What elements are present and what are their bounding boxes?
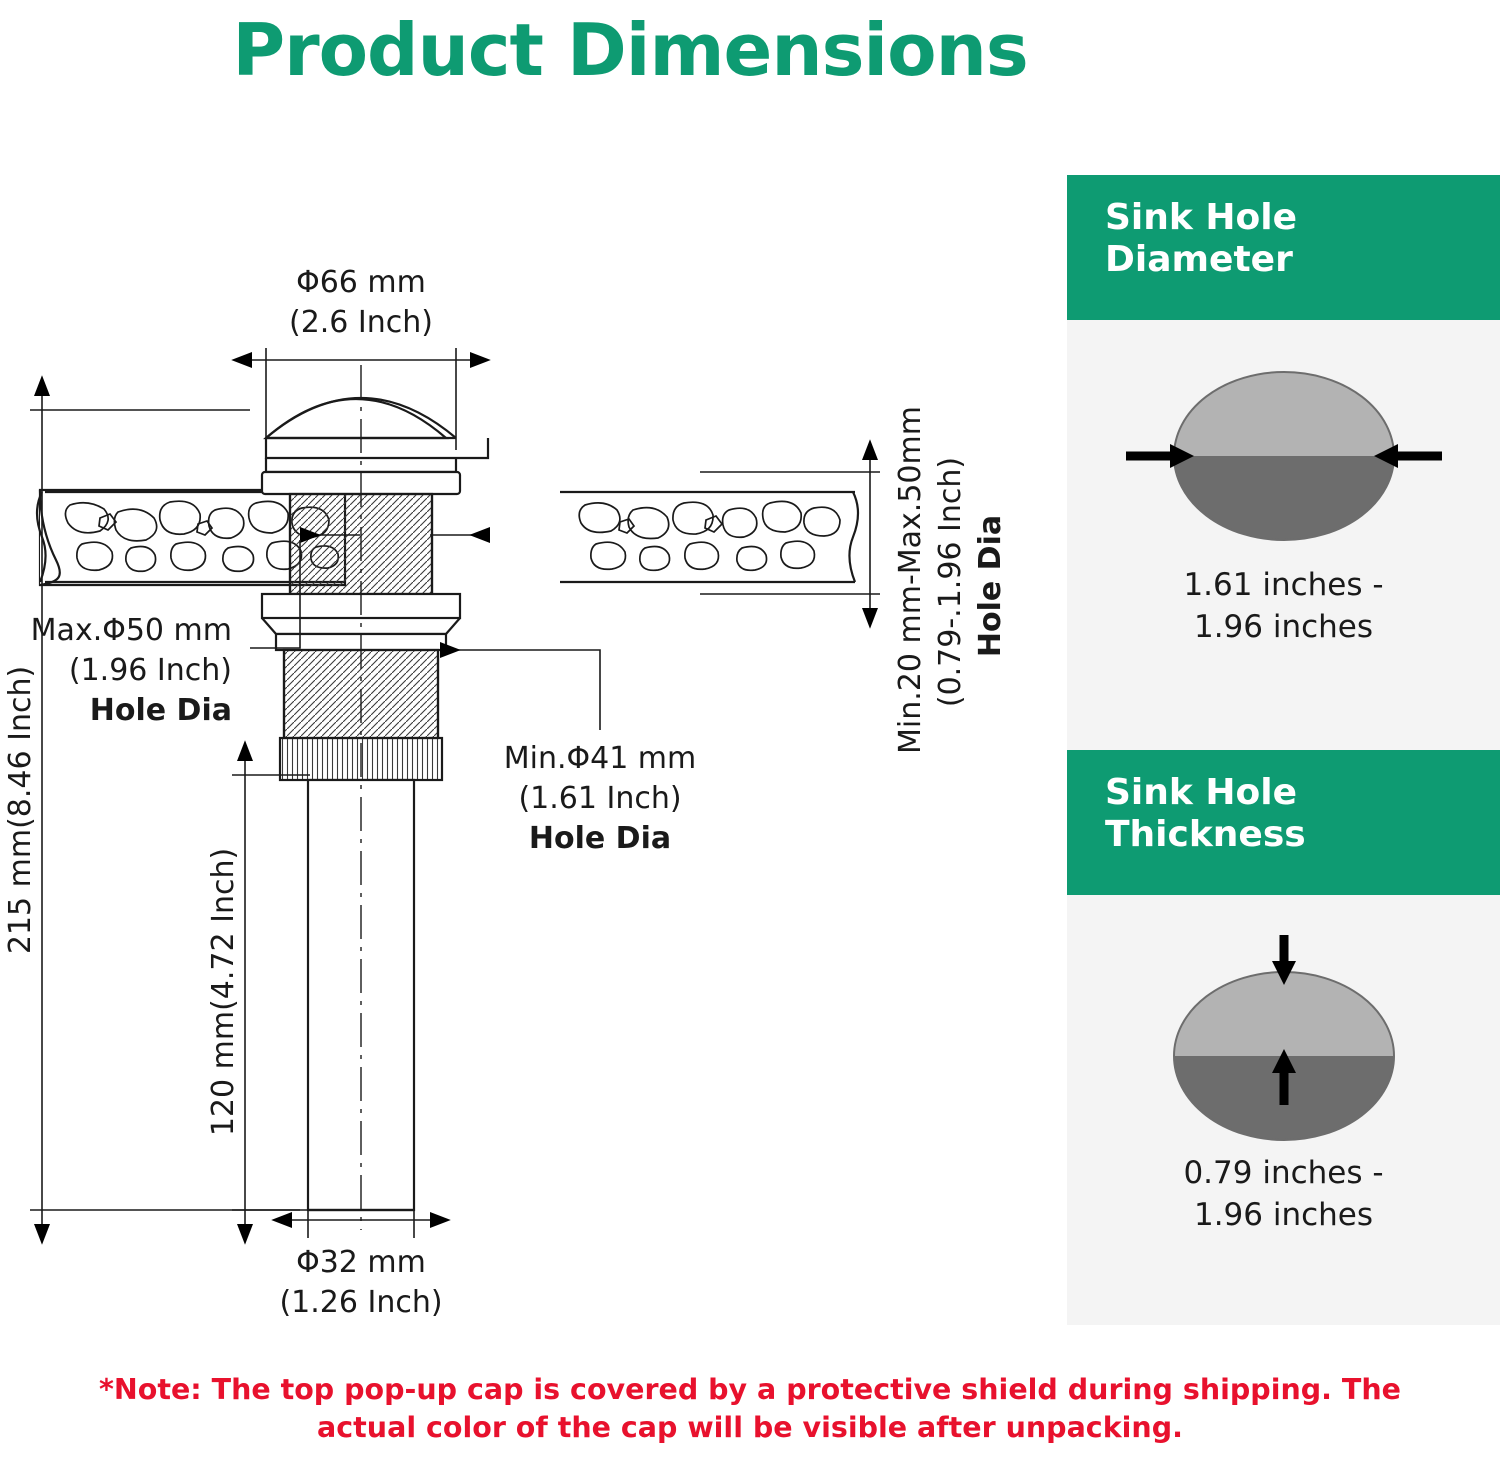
sink-hole-diameter-card: Sink Hole Diameter 1.61 inches - 1.96 in… <box>1067 175 1500 750</box>
sink-hole-thickness-caption: 0.79 inches - 1.96 inches <box>1067 1153 1500 1237</box>
info-panel: Sink Hole Diameter 1.61 inches - 1.96 in… <box>1067 175 1500 1323</box>
sink-hole-diameter-icon <box>1084 346 1484 576</box>
label-tail-length: 120 mm(4.72 Inch) <box>206 848 241 1136</box>
note-line-1: *Note: The top pop-up cap is covered by … <box>60 1371 1440 1409</box>
label-thickness: Min.20 mm-Max.50mm <box>893 406 928 754</box>
heading-line-2: Diameter <box>1105 239 1500 281</box>
sink-hole-thickness-icon <box>1084 921 1484 1171</box>
sink-hole-thickness-heading: Sink Hole Thickness <box>1067 750 1500 895</box>
caption-line-2: 1.96 inches <box>1067 1195 1500 1237</box>
label-max-hole: Max.Φ50 mm <box>31 613 232 648</box>
heading-line-1: Sink Hole <box>1105 772 1500 814</box>
heading-line-2: Thickness <box>1105 814 1500 856</box>
label-tail-diameter-inch: (1.26 Inch) <box>279 1285 442 1320</box>
label-thickness-inch: (0.79-.1.96 Inch) <box>933 457 968 707</box>
sink-hole-thickness-body: 0.79 inches - 1.96 inches <box>1067 895 1500 1325</box>
label-cap-diameter-inch: (2.6 Inch) <box>289 305 433 340</box>
sink-hole-diameter-body: 1.61 inches - 1.96 inches <box>1067 320 1500 750</box>
technical-drawing: Φ66 mm (2.6 Inch) 215 mm(8.46 Inch) 120 … <box>0 120 1060 1360</box>
sink-hole-diameter-heading: Sink Hole Diameter <box>1067 175 1500 320</box>
label-thickness-dia: Hole Dia <box>973 515 1008 657</box>
caption-line-2: 1.96 inches <box>1067 607 1500 649</box>
sink-hole-thickness-card: Sink Hole Thickness 0.79 inches - 1.96 i… <box>1067 750 1500 1323</box>
heading-line-1: Sink Hole <box>1105 197 1500 239</box>
caption-line-1: 1.61 inches - <box>1067 565 1500 607</box>
label-max-hole-inch: (1.96 Inch) <box>69 653 232 688</box>
label-total-height: 215 mm(8.46 Inch) <box>3 666 38 954</box>
shipping-note: *Note: The top pop-up cap is covered by … <box>0 1371 1500 1447</box>
label-min-hole: Min.Φ41 mm <box>504 741 697 776</box>
caption-line-1: 0.79 inches - <box>1067 1153 1500 1195</box>
sink-hole-diameter-caption: 1.61 inches - 1.96 inches <box>1067 565 1500 649</box>
page-title: Product Dimensions <box>0 8 1260 92</box>
label-min-hole-inch: (1.61 Inch) <box>518 781 681 816</box>
label-max-hole-dia: Hole Dia <box>90 693 232 728</box>
note-line-2: actual color of the cap will be visible … <box>60 1409 1440 1447</box>
label-tail-diameter: Φ32 mm <box>296 1245 426 1280</box>
label-min-hole-dia: Hole Dia <box>529 821 671 856</box>
label-cap-diameter: Φ66 mm <box>296 265 426 300</box>
